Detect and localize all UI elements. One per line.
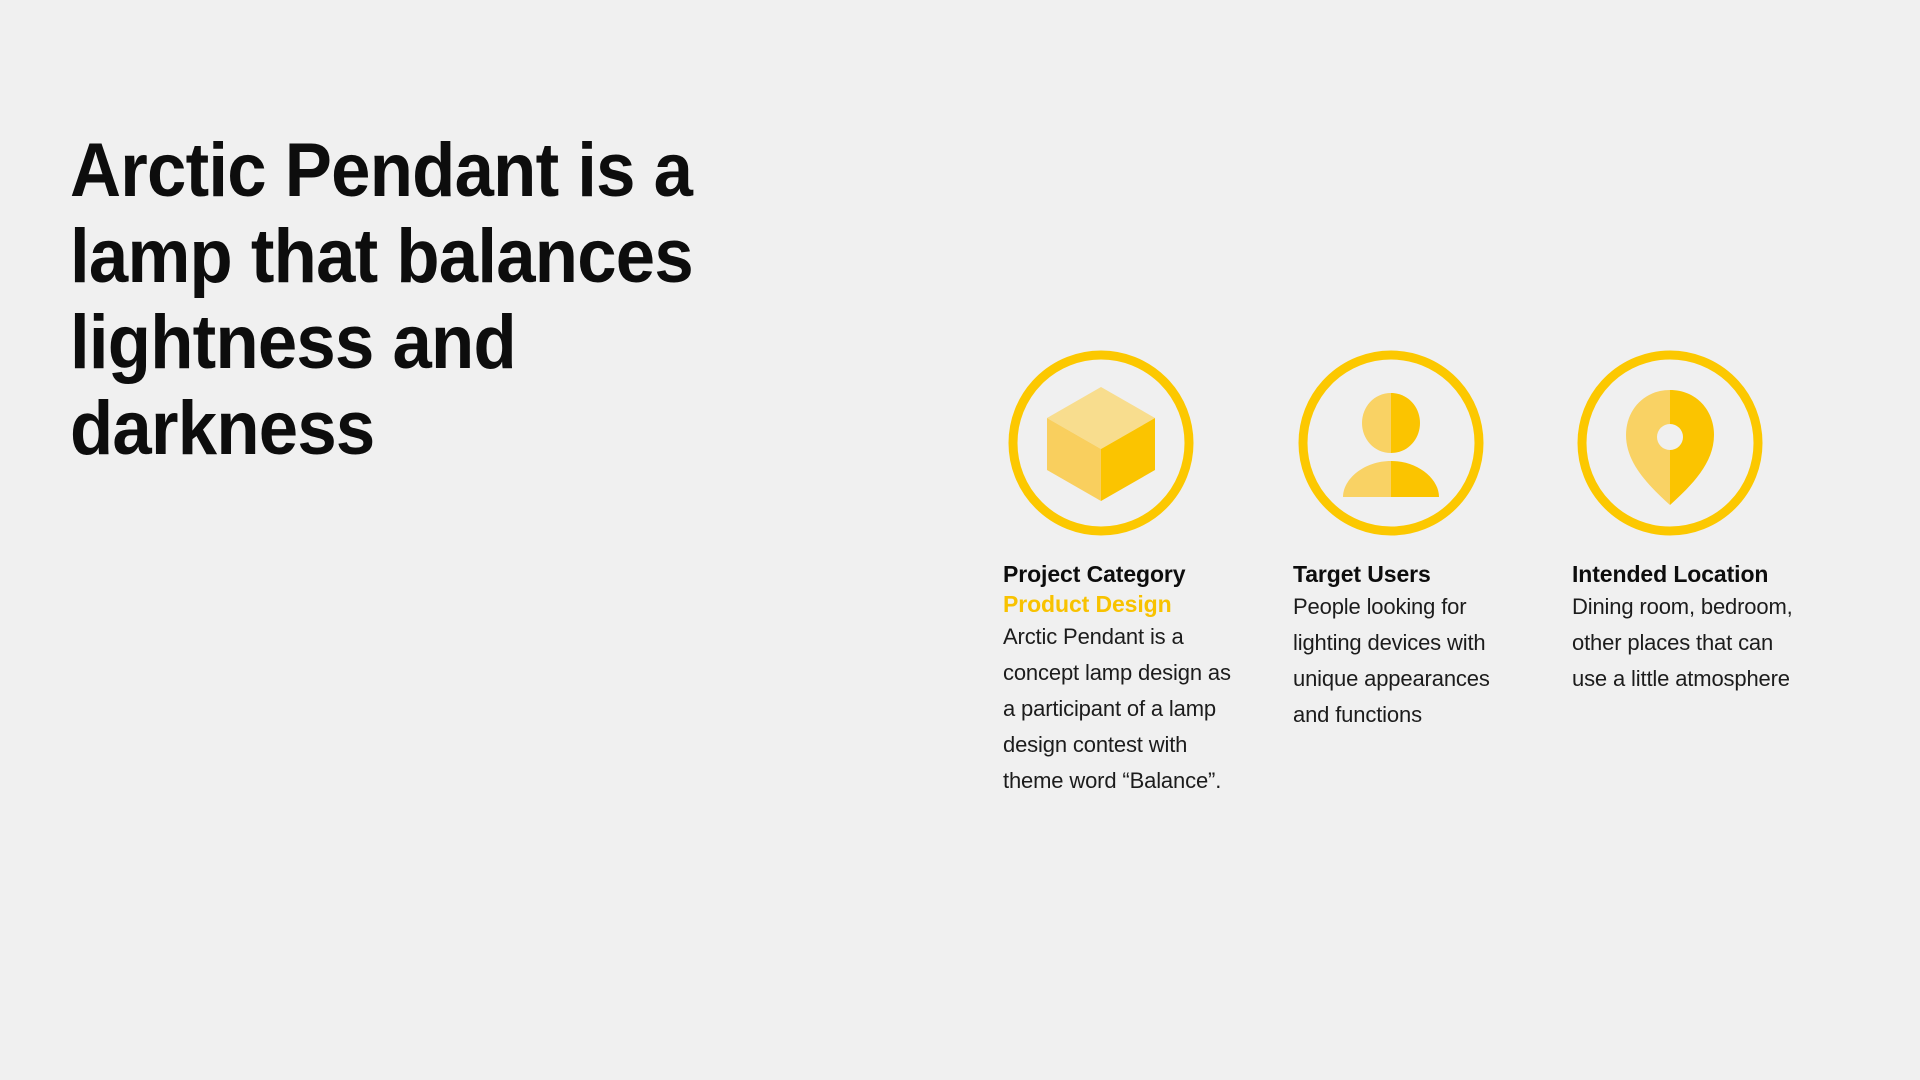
slide-canvas: Arctic Pendant is a lamp that balances l… — [0, 0, 1920, 1080]
feature-title: Target Users — [1293, 559, 1524, 589]
icon-container-project-category — [1003, 345, 1238, 559]
feature-card-project-category: Project Category Product Design Arctic P… — [1003, 345, 1293, 799]
feature-title: Project Category — [1003, 559, 1238, 589]
person-icon — [1293, 345, 1489, 541]
feature-text-target-users: Target Users People looking for lighting… — [1293, 559, 1524, 733]
icon-container-intended-location — [1572, 345, 1813, 559]
feature-text-project-category: Project Category Product Design Arctic P… — [1003, 559, 1238, 799]
feature-body: Dining room, bedroom, other places that … — [1572, 589, 1813, 697]
icon-container-target-users — [1293, 345, 1524, 559]
page-title: Arctic Pendant is a lamp that balances l… — [70, 128, 777, 472]
feature-text-intended-location: Intended Location Dining room, bedroom, … — [1572, 559, 1813, 697]
feature-columns: Project Category Product Design Arctic P… — [1003, 345, 1853, 799]
cube-icon — [1003, 345, 1199, 541]
feature-card-intended-location: Intended Location Dining room, bedroom, … — [1572, 345, 1853, 697]
feature-card-target-users: Target Users People looking for lighting… — [1293, 345, 1572, 733]
feature-body: People looking for lighting devices with… — [1293, 589, 1524, 733]
feature-subtitle: Product Design — [1003, 589, 1238, 619]
location-pin-icon — [1572, 345, 1768, 541]
feature-title: Intended Location — [1572, 559, 1813, 589]
feature-body: Arctic Pendant is a concept lamp design … — [1003, 619, 1238, 799]
